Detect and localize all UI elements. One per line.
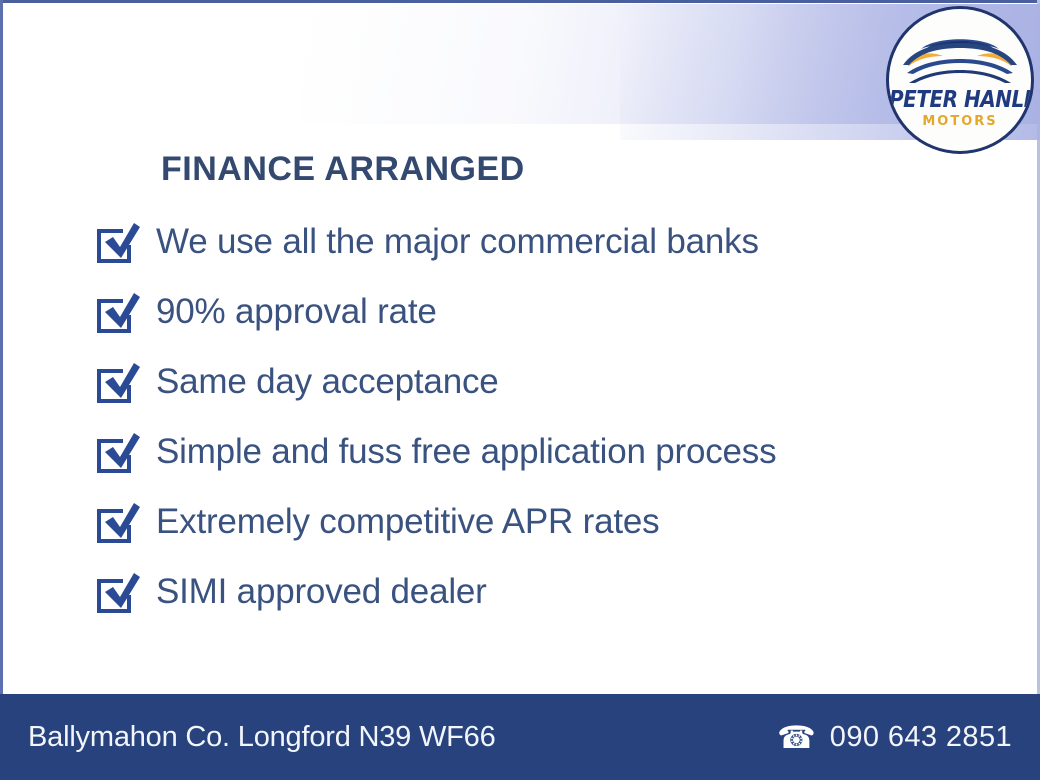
checked-checkbox-icon xyxy=(90,357,142,409)
benefits-checklist: We use all the major commercial banks 90… xyxy=(90,208,970,628)
list-item: We use all the major commercial banks xyxy=(90,208,970,278)
checked-checkbox-icon xyxy=(90,567,142,619)
page-title: FINANCE ARRANGED xyxy=(161,150,525,189)
list-item: Same day acceptance xyxy=(90,348,970,418)
checked-checkbox-icon xyxy=(90,497,142,549)
list-item: Simple and fuss free application process xyxy=(90,418,970,488)
promo-banner: PETER HANLEY MOTORS FINANCE ARRANGED We … xyxy=(0,0,1040,780)
list-item: Extremely competitive APR rates xyxy=(90,488,970,558)
frame-left-border xyxy=(0,0,3,694)
list-item-label: Simple and fuss free application process xyxy=(156,434,776,472)
checked-checkbox-icon xyxy=(90,217,142,269)
checked-checkbox-icon xyxy=(90,427,142,479)
footer-address: Ballymahon Co. Longford N39 WF66 xyxy=(28,721,496,754)
logo-brand-name: PETER HANLEY xyxy=(889,88,1031,111)
list-item-label: Same day acceptance xyxy=(156,364,499,402)
list-item-label: SIMI approved dealer xyxy=(156,574,487,612)
footer-phone-number[interactable]: 090 643 2851 xyxy=(830,721,1012,754)
footer-bar: Ballymahon Co. Longford N39 WF66 ☎ 090 6… xyxy=(0,694,1040,780)
brand-logo: PETER HANLEY MOTORS xyxy=(886,6,1034,154)
list-item: 90% approval rate xyxy=(90,278,970,348)
list-item: SIMI approved dealer xyxy=(90,558,970,628)
telephone-icon: ☎ xyxy=(777,722,816,753)
list-item-label: We use all the major commercial banks xyxy=(156,224,759,262)
list-item-label: 90% approval rate xyxy=(156,294,437,332)
frame-top-border xyxy=(0,0,1040,3)
car-front-icon xyxy=(897,25,1023,87)
list-item-label: Extremely competitive APR rates xyxy=(156,504,659,542)
checked-checkbox-icon xyxy=(90,287,142,339)
logo-brand-subtitle: MOTORS xyxy=(889,115,1031,128)
footer-contact: ☎ 090 643 2851 xyxy=(777,721,1012,754)
